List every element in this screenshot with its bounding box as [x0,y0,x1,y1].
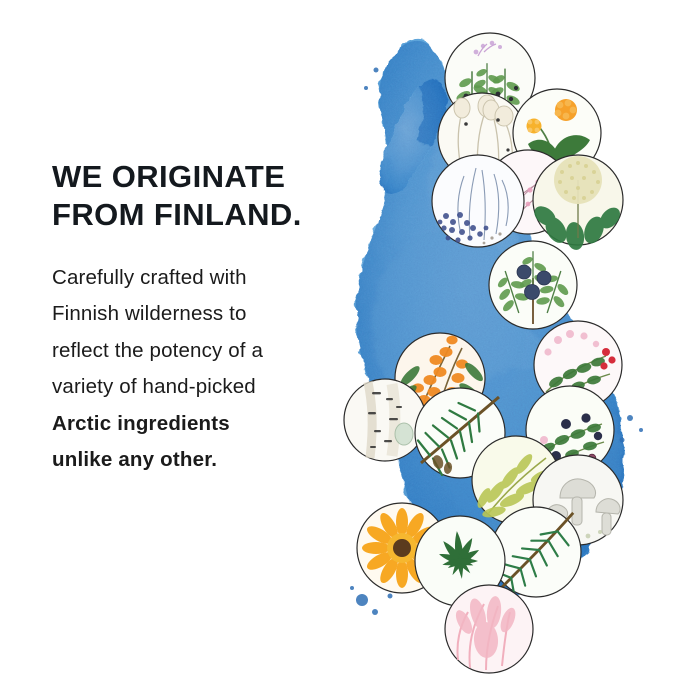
page-title: WE ORIGINATE FROM FINLAND. [52,158,352,234]
body-line-4: variety of hand-picked [52,369,352,405]
poster-canvas: WE ORIGINATE FROM FINLAND. Carefully cra… [0,0,679,679]
text-panel: WE ORIGINATE FROM FINLAND. Carefully cra… [52,158,352,479]
finland-map-illustration [330,24,679,664]
body-line-3: reflect the potency of a [52,333,352,369]
body-line-5: Arctic ingredients [52,406,352,442]
headline-line-1: WE ORIGINATE [52,158,352,196]
headline-line-2: FROM FINLAND. [52,196,352,234]
body-copy: Carefully crafted with Finnish wildernes… [52,260,352,479]
body-line-1: Carefully crafted with [52,260,352,296]
body-line-6: unlike any other. [52,442,352,478]
body-line-2: Finnish wilderness to [52,296,352,332]
